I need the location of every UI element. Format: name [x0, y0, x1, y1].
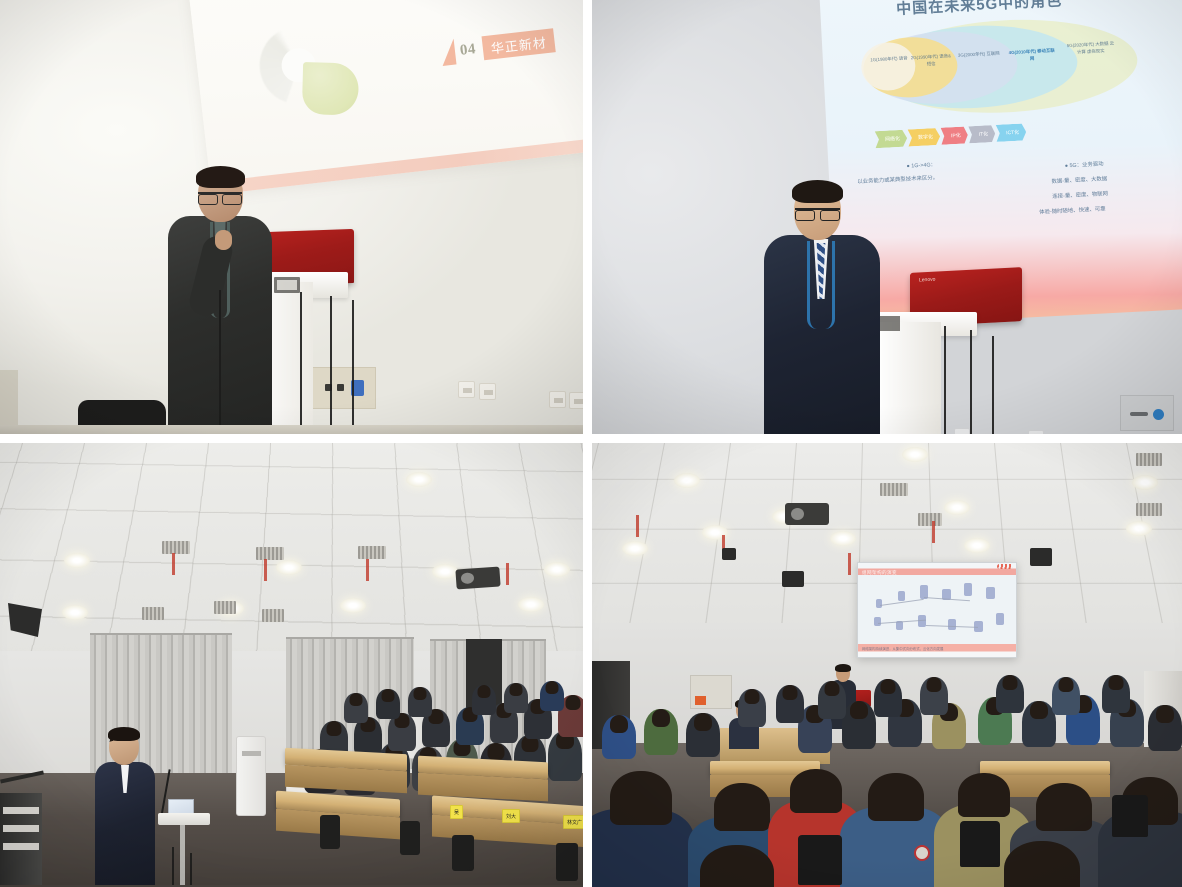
ceiling-projector — [455, 566, 500, 589]
photo-top-right-presenter: 中国在未来5G中的角色 WA 1G(1980年代) 语音 2G(1990年代) … — [592, 0, 1182, 434]
ceiling-downlight — [1132, 475, 1158, 490]
attendee — [996, 675, 1024, 713]
arrow-step-5: ICT化 — [996, 123, 1027, 142]
topology-node — [964, 583, 972, 596]
slide-note-1: ● 1G->4G： — [906, 160, 936, 172]
air-vent — [918, 513, 942, 526]
wall-speaker — [1030, 548, 1052, 566]
ceiling-downlight — [406, 472, 432, 487]
air-vent — [358, 546, 386, 559]
arrow-step-4: IT化 — [968, 125, 995, 143]
ceiling-downlight — [518, 597, 544, 612]
photo-bottom-right-audience: 组网架构的演变 网络架构持续演进，从集中式向分布式、云化方向发展 — [592, 443, 1182, 887]
ceiling-downlight — [964, 538, 990, 553]
air-vent — [880, 483, 908, 496]
agenda-row-04: 04 华正新材 — [440, 27, 556, 66]
ceiling-downlight — [62, 605, 88, 620]
presenter-figure — [95, 729, 155, 885]
office-chair — [798, 835, 842, 885]
shoulder-patch — [914, 845, 930, 861]
ceiling-downlight — [544, 562, 570, 577]
name-plate: 刘大 — [502, 809, 520, 823]
sprinkler — [264, 559, 267, 581]
ceiling-downlight — [64, 553, 90, 568]
attendee — [776, 685, 804, 723]
attendee — [472, 685, 496, 715]
ceiling-downlight — [622, 541, 648, 556]
office-chair — [1112, 795, 1148, 837]
cable — [190, 853, 230, 885]
cable — [352, 300, 376, 434]
av-rack — [0, 793, 42, 885]
attendee — [842, 701, 876, 749]
ceiling-downlight — [830, 531, 856, 546]
air-vent — [262, 609, 284, 622]
wall-speaker — [722, 548, 736, 560]
topology-node — [898, 591, 905, 601]
attendee — [376, 689, 400, 719]
office-chair — [320, 815, 340, 849]
sprinkler — [172, 553, 175, 575]
attendee — [548, 731, 582, 781]
ceiling-downlight — [674, 473, 700, 488]
ellipse-label-2g: 2G(1990年代) 语音&短信 — [909, 53, 954, 69]
floor-ac-unit — [236, 736, 266, 816]
podium-control-panel — [274, 277, 300, 293]
arrow-step-3: IP化 — [941, 126, 969, 144]
sprinkler — [366, 559, 369, 581]
cable — [992, 336, 1012, 434]
ceiling-downlight — [276, 560, 302, 575]
agenda-label: 华正新材 — [482, 28, 556, 60]
attendee-head-closest — [1004, 841, 1080, 887]
photo-panel-bottom-right: 组网架构的演变 网络架构持续演进，从集中式向分布式、云化方向发展 — [588, 438, 1182, 887]
topology-edge — [924, 597, 970, 601]
attendee-head — [790, 769, 842, 813]
ceiling-downlight — [944, 500, 970, 515]
ceiling-projector — [785, 503, 829, 525]
company-logo-icon — [997, 564, 1013, 569]
lanyard — [807, 241, 835, 329]
attendee-head — [714, 783, 770, 831]
topology-node — [948, 619, 956, 630]
arrow-step-1: 网络化 — [875, 130, 908, 149]
photo-bottom-left-room-wide: 吴 刘大 林文广 — [0, 443, 583, 887]
office-chair — [400, 821, 420, 855]
motion-sensor — [1120, 395, 1174, 431]
photo-panel-top-right: 中国在未来5G中的角色 WA 1G(1980年代) 语音 2G(1990年代) … — [588, 0, 1182, 438]
attendee — [344, 693, 368, 723]
attendee — [1148, 705, 1182, 751]
evolution-arrow-chain: 网络化 数字化 IP化 IT化 ICT化 — [875, 123, 1027, 148]
slide-header-text: 组网架构的演变 — [862, 570, 897, 576]
attendee — [540, 681, 564, 711]
sprinkler — [932, 521, 935, 543]
wall-socket-icon — [549, 391, 566, 408]
air-vent — [142, 607, 164, 620]
cable — [219, 290, 245, 434]
name-plate: 林文广 — [563, 815, 583, 829]
arrow-step-2: 数字化 — [908, 128, 941, 147]
triangle-marker-icon — [440, 39, 457, 66]
sprinkler — [506, 563, 509, 585]
attendee — [408, 687, 432, 717]
topology-node — [996, 613, 1004, 625]
sprinkler — [848, 553, 851, 575]
wall-socket-icon — [954, 428, 970, 434]
wall-corner-panel — [0, 370, 18, 430]
attendee — [920, 677, 948, 715]
photo-panel-top-left: 02 5G通信材 03 5G通信市 04 华正新材 — [0, 0, 588, 438]
wall-socket-icon — [1028, 430, 1044, 434]
ellipse-label-4g: 4G(2010年代) 移动互联网 — [1007, 48, 1058, 64]
air-vent — [1136, 453, 1162, 466]
air-vent — [214, 601, 236, 614]
sprinkler — [636, 515, 639, 537]
topology-node — [876, 599, 882, 608]
photo-collage: 02 5G通信材 03 5G通信市 04 华正新材 — [0, 0, 1182, 887]
attendee — [504, 683, 528, 713]
office-chair — [556, 843, 578, 881]
photo-top-left-presenter: 02 5G通信材 03 5G通信市 04 华正新材 — [0, 0, 583, 434]
wall-socket-icon — [569, 392, 583, 409]
slide-note-4: 数据-量、密度、大数据 — [1051, 174, 1107, 187]
projection-screen-topology: 组网架构的演变 网络架构持续演进，从集中式向分布式、云化方向发展 — [857, 562, 1017, 658]
air-vent — [256, 547, 284, 560]
ceiling-downlight — [340, 598, 366, 613]
attendee-head — [958, 773, 1010, 817]
ceiling-downlight — [1126, 521, 1152, 536]
attendee-head — [610, 771, 672, 825]
wall-socket-icon — [458, 381, 475, 398]
audience-front-row — [592, 749, 1182, 887]
name-plate: 吴 — [450, 805, 463, 819]
attendee — [1052, 677, 1080, 715]
ellipse-label-5g: 5G(2020年代) 大数据 云计算 虚拟现实 — [1066, 41, 1115, 57]
attendee — [738, 689, 766, 727]
wall-speaker — [782, 571, 804, 587]
air-vent — [162, 541, 190, 554]
slide-title: 中国在未来5G中的角色 — [896, 0, 1063, 19]
attendee — [1022, 701, 1056, 747]
glasses-icon — [198, 192, 242, 201]
attendee-head — [868, 773, 924, 821]
topology-node — [874, 617, 881, 626]
slide-footer-text: 网络架构持续演进，从集中式向分布式、云化方向发展 — [862, 647, 1012, 653]
ceiling-downlight — [902, 447, 928, 462]
attendee — [1102, 675, 1130, 713]
floor-skirting — [0, 425, 583, 434]
air-vent — [1136, 503, 1162, 516]
office-chair — [452, 835, 474, 871]
attendee — [818, 681, 846, 719]
office-chair — [960, 821, 1000, 867]
slide-note-5: 连接-量、密度、物联网 — [1052, 189, 1108, 202]
attendee-head — [1036, 783, 1092, 831]
presenter-figure — [762, 183, 882, 434]
agenda-number: 04 — [459, 41, 477, 60]
attendee — [874, 679, 902, 717]
slide-note-3: ● 5G：业务驱动 — [1065, 159, 1104, 171]
glasses-icon — [795, 208, 840, 217]
photo-panel-bottom-left: 吴 刘大 林文广 — [0, 438, 588, 887]
wall-socket-icon — [479, 383, 496, 400]
slide-note-6: 体验-随时随地、快速、可靠 — [1039, 204, 1106, 218]
ceiling-downlight — [432, 564, 458, 579]
pie-chart-graphic — [255, 20, 363, 124]
topology-node — [986, 587, 995, 599]
